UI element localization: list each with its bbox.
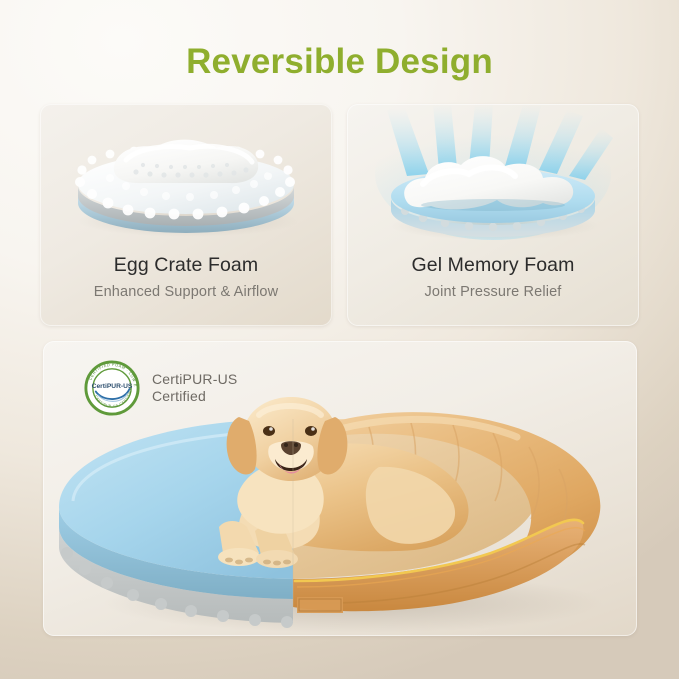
page-title: Reversible Design — [0, 42, 679, 82]
card-subtitle-egg-crate: Enhanced Support & Airflow — [40, 284, 332, 300]
certipur-label: CertiPUR-US Certified — [152, 371, 237, 405]
egg-crate-foam-illustration — [40, 104, 332, 254]
card-subtitle-gel-memory: Joint Pressure Relief — [347, 284, 639, 300]
gel-memory-foam-illustration — [347, 104, 639, 254]
certipur-badge-group: CERTIFIED FOAM · LOW EMISSIONS CERTIPUR-… — [83, 359, 237, 417]
main-product-panel: CERTIFIED FOAM · LOW EMISSIONS CERTIPUR-… — [43, 341, 637, 636]
card-title-gel-memory: Gel Memory Foam — [347, 254, 639, 277]
feature-card-gel-memory: Gel Memory Foam Joint Pressure Relief — [347, 104, 639, 326]
certipur-us-seal-icon: CERTIFIED FOAM · LOW EMISSIONS CERTIPUR-… — [83, 359, 141, 417]
card-title-egg-crate: Egg Crate Foam — [40, 254, 332, 277]
svg-text:CertiPUR-US: CertiPUR-US — [92, 383, 133, 390]
product-tag — [297, 597, 343, 613]
feature-card-egg-crate: Egg Crate Foam Enhanced Support & Airflo… — [40, 104, 332, 326]
infographic-root: Reversible Design — [0, 0, 679, 679]
